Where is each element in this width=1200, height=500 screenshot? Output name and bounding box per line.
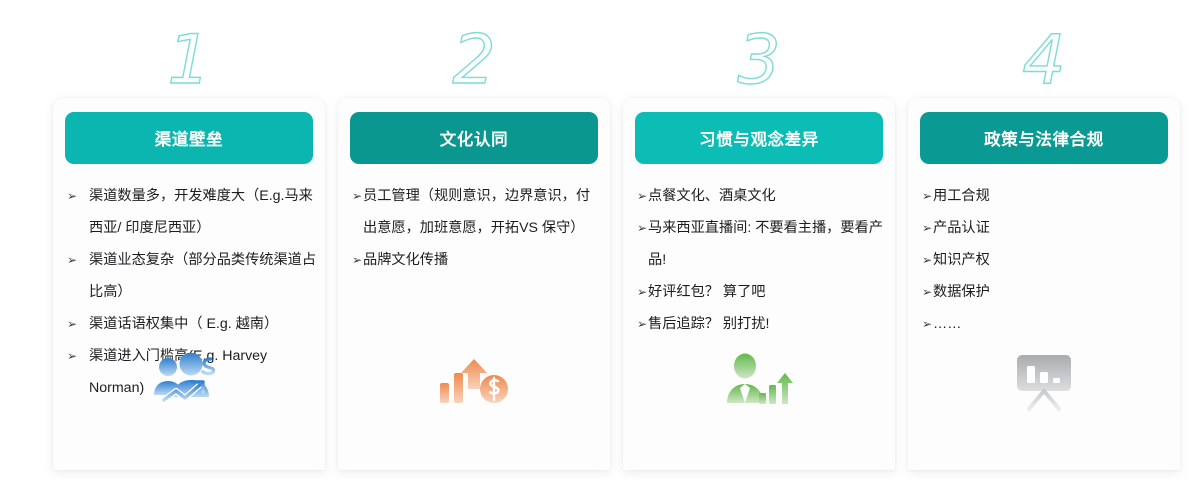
list-item-text: 渠道业态复杂（部分品类传统渠道占比高） [89,244,317,308]
arrow-bullet-icon: ➢ [352,244,363,276]
card-4-icon-wrap [908,350,1180,412]
list-item: ➢ 知识产权 [922,244,1172,276]
list-item: ➢ 数据保护 [922,276,1172,308]
card-number-1: 1 [53,24,325,98]
list-item: ➢ 好评红包？ 算了吧 [637,276,887,308]
list-item-text: 品牌文化传播 [363,244,602,276]
arrow-bullet-icon: ➢ [922,308,933,340]
list-item-text: …… [933,308,1172,340]
people-growth-dollar-icon [146,353,232,409]
list-item: ➢ 渠道数量多，开发难度大（E.g.马来西亚/ 印度尼西亚） [67,180,317,244]
list-item: ➢ …… [922,308,1172,340]
list-item: ➢ 员工管理（规则意识，边界意识，付出意愿，加班意愿，开拓VS 保守） [352,180,602,244]
arrow-bullet-icon: ➢ [67,180,89,212]
list-item-text: 点餐文化、酒桌文化 [648,180,887,212]
card-4-bullet-list: ➢ 用工合规 ➢ 产品认证 ➢ 知识产权 ➢ 数据保护 ➢ …… [922,180,1172,340]
arrow-bullet-icon: ➢ [922,276,933,308]
list-item-text: 渠道话语权集中（ E.g. 越南） [89,308,317,340]
list-item: ➢ 售后追踪？ 别打扰! [637,308,887,340]
diagram-board: 1 渠道壁垒 ➢ 渠道数量多，开发难度大（E.g.马来西亚/ 印度尼西亚） ➢ … [0,0,1200,500]
list-item-text: 马来西亚直播间: 不要看主播，要看产品! [648,212,887,276]
card-number-3: 3 [623,24,895,98]
card-3-title: 习惯与观念差异 [699,126,819,150]
card-3[interactable]: 习惯与观念差异 ➢ 点餐文化、酒桌文化 ➢ 马来西亚直播间: 不要看主播，要看产… [623,98,895,470]
arrow-bullet-icon: ➢ [637,308,648,340]
card-3-bullet-list: ➢ 点餐文化、酒桌文化 ➢ 马来西亚直播间: 不要看主播，要看产品! ➢ 好评红… [637,180,887,340]
list-item: ➢ 品牌文化传播 [352,244,602,276]
card-2-bullet-list: ➢ 员工管理（规则意识，边界意识，付出意愿，加班意愿，开拓VS 保守） ➢ 品牌… [352,180,602,276]
card-4-title: 政策与法律合规 [984,126,1104,150]
card-number-4: 4 [908,24,1180,98]
card-2-title: 文化认同 [440,126,508,150]
list-item-text: 数据保护 [933,276,1172,308]
arrow-bullet-icon: ➢ [67,244,89,276]
card-1-header: 渠道壁垒 [65,112,313,164]
arrow-bullet-icon: ➢ [637,180,648,212]
card-2-header: 文化认同 [350,112,598,164]
card-2[interactable]: 文化认同 ➢ 员工管理（规则意识，边界意识，付出意愿，加班意愿，开拓VS 保守）… [338,98,610,470]
list-item: ➢ 渠道业态复杂（部分品类传统渠道占比高） [67,244,317,308]
presentation-board-chart-icon [1011,351,1077,411]
card-2-icon-wrap [338,350,610,412]
list-item: ➢ 点餐文化、酒桌文化 [637,180,887,212]
list-item: ➢ 产品认证 [922,212,1172,244]
card-3-icon-wrap [623,350,895,412]
arrow-bullet-icon: ➢ [352,180,363,212]
list-item-text: 知识产权 [933,244,1172,276]
list-item-text: 员工管理（规则意识，边界意识，付出意愿，加班意愿，开拓VS 保守） [363,180,602,244]
list-item-text: 好评红包？ 算了吧 [648,276,887,308]
list-item-text: 渠道数量多，开发难度大（E.g.马来西亚/ 印度尼西亚） [89,180,317,244]
list-item: ➢ 渠道话语权集中（ E.g. 越南） [67,308,317,340]
card-4-header: 政策与法律合规 [920,112,1168,164]
person-bar-chart-arrow-icon [723,353,795,409]
card-1-title: 渠道壁垒 [155,126,223,150]
list-item: ➢ 用工合规 [922,180,1172,212]
arrow-bullet-icon: ➢ [637,212,648,244]
list-item-text: 售后追踪？ 别打扰! [648,308,887,340]
cards-row: 1 渠道壁垒 ➢ 渠道数量多，开发难度大（E.g.马来西亚/ 印度尼西亚） ➢ … [0,0,1200,500]
card-3-header: 习惯与观念差异 [635,112,883,164]
card-number-2: 2 [338,24,610,98]
arrow-bullet-icon: ➢ [922,180,933,212]
bar-arrow-coin-icon [436,353,512,409]
card-4[interactable]: 政策与法律合规 ➢ 用工合规 ➢ 产品认证 ➢ 知识产权 ➢ 数据保护 [908,98,1180,470]
list-item-text: 用工合规 [933,180,1172,212]
arrow-bullet-icon: ➢ [922,212,933,244]
list-item-text: 产品认证 [933,212,1172,244]
arrow-bullet-icon: ➢ [922,244,933,276]
arrow-bullet-icon: ➢ [67,308,89,340]
arrow-bullet-icon: ➢ [637,276,648,308]
card-1-icon-wrap [53,350,325,412]
card-1[interactable]: 渠道壁垒 ➢ 渠道数量多，开发难度大（E.g.马来西亚/ 印度尼西亚） ➢ 渠道… [53,98,325,470]
list-item: ➢ 马来西亚直播间: 不要看主播，要看产品! [637,212,887,276]
